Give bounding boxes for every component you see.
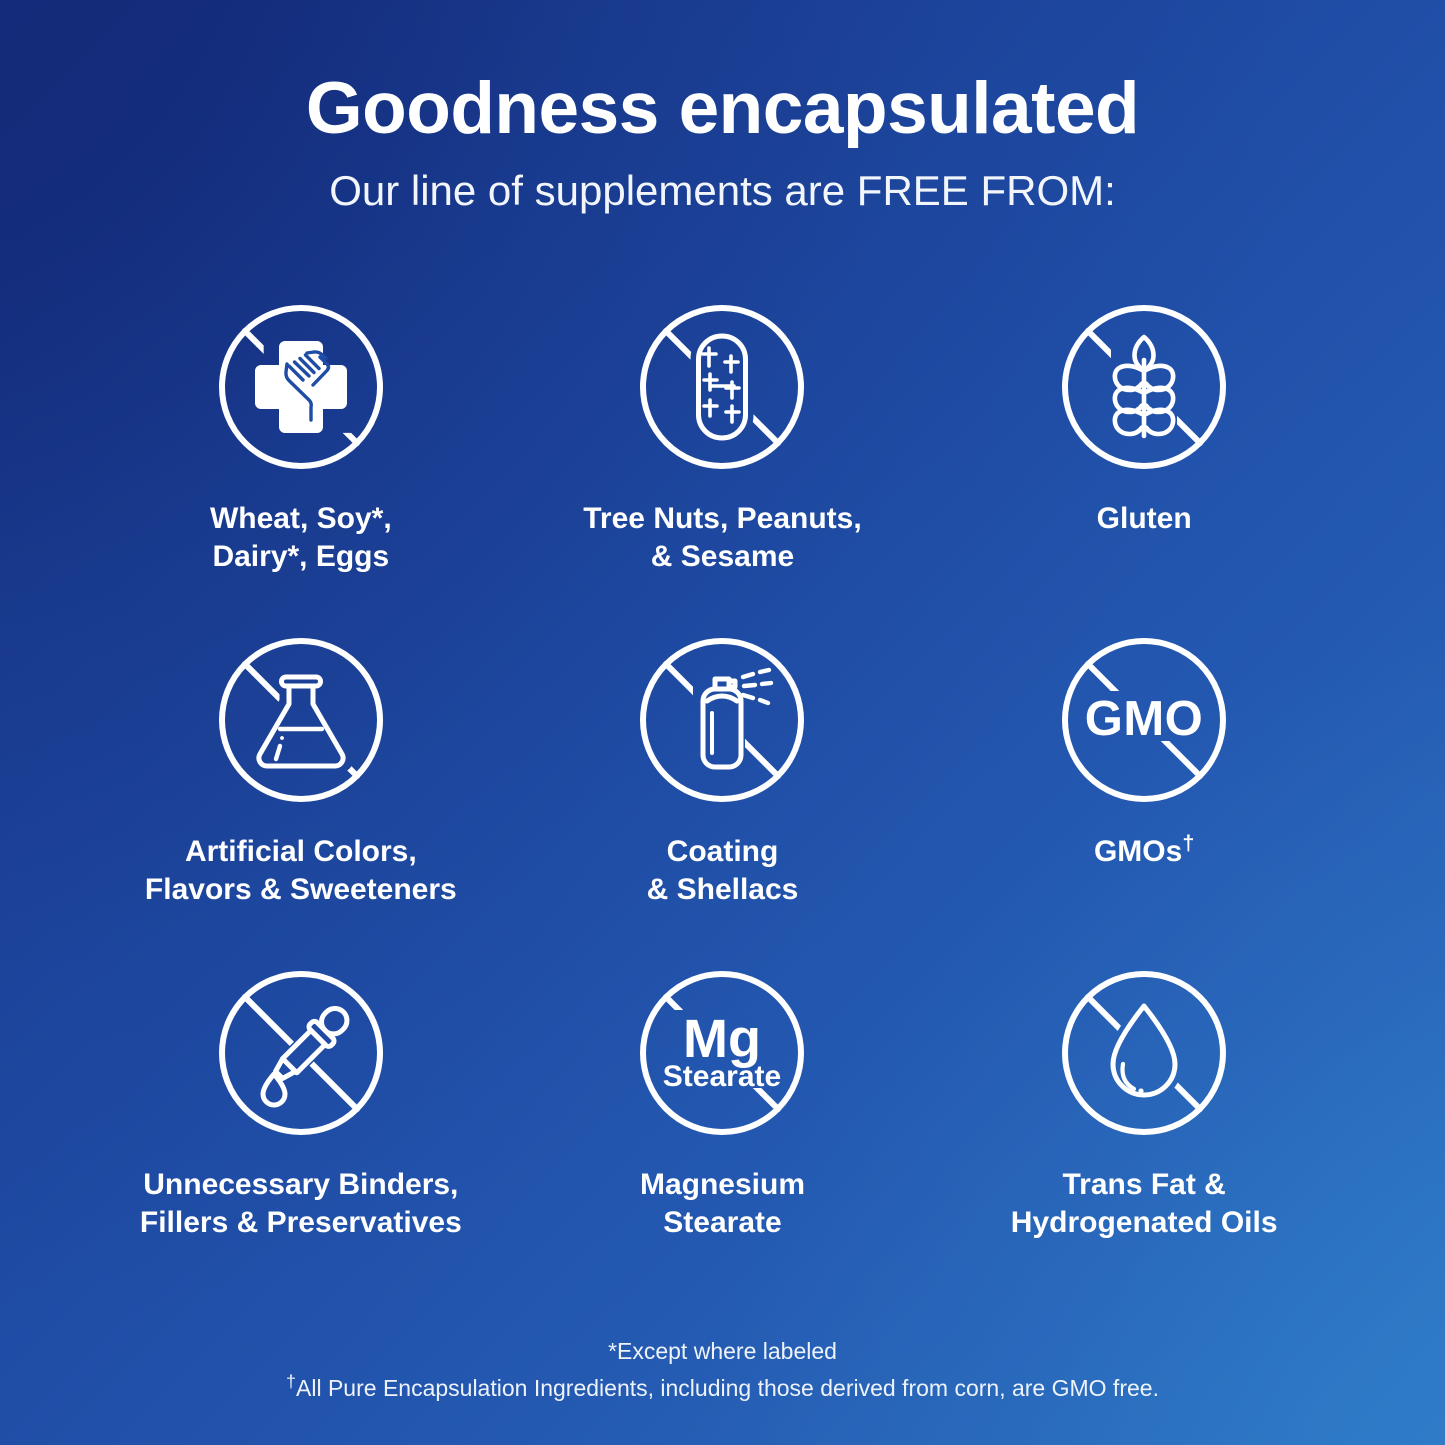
peanut-icon bbox=[631, 296, 813, 478]
caption-line-1: Wheat, Soy*, bbox=[210, 502, 392, 535]
caption-line-1: GMOs bbox=[1094, 835, 1182, 868]
caption: GMOs† bbox=[1094, 833, 1194, 871]
caption: Trans Fat & Hydrogenated Oils bbox=[1011, 1166, 1278, 1243]
caption: Tree Nuts, Peanuts, & Sesame bbox=[583, 500, 861, 577]
spray-can-icon bbox=[631, 629, 813, 811]
grid-item-gmo: GMO GMOs† bbox=[933, 629, 1355, 962]
header: Goodness encapsulated Our line of supple… bbox=[0, 0, 1445, 212]
oil-droplet-icon bbox=[1053, 962, 1235, 1144]
caption: Coating & Shellacs bbox=[647, 833, 799, 910]
dropper-pipette-icon bbox=[210, 962, 392, 1144]
medical-cross-fork-icon bbox=[210, 296, 392, 478]
footnote-asterisk: *Except where labeled bbox=[0, 1333, 1445, 1370]
footnotes: *Except where labeled †All Pure Encapsul… bbox=[0, 1333, 1445, 1407]
caption-line-1: Gluten bbox=[1097, 502, 1192, 535]
grid-item-nuts: Tree Nuts, Peanuts, & Sesame bbox=[512, 296, 934, 629]
caption-line-2: Fillers & Preservatives bbox=[140, 1206, 462, 1239]
caption-line-1: Unnecessary Binders, bbox=[143, 1168, 458, 1201]
caption-line-1: Tree Nuts, Peanuts, bbox=[583, 502, 861, 535]
mg-stearate-text-icon: Mg Stearate bbox=[631, 962, 813, 1144]
caption-line-2: & Shellacs bbox=[647, 873, 799, 906]
page-subtitle: Our line of supplements are FREE FROM: bbox=[0, 145, 1445, 212]
caption: Artificial Colors, Flavors & Sweeteners bbox=[145, 833, 457, 910]
footnote-dagger-text: All Pure Encapsulation Ingredients, incl… bbox=[296, 1375, 1159, 1401]
grid-item-allergens: Wheat, Soy*, Dairy*, Eggs bbox=[90, 296, 512, 629]
caption-line-2: Dairy*, Eggs bbox=[212, 540, 389, 573]
gmo-text-icon: GMO bbox=[1053, 629, 1235, 811]
caption-line-2: Hydrogenated Oils bbox=[1011, 1206, 1278, 1239]
caption: Magnesium Stearate bbox=[640, 1166, 805, 1243]
caption: Unnecessary Binders, Fillers & Preservat… bbox=[140, 1166, 462, 1243]
grid-item-binders: Unnecessary Binders, Fillers & Preservat… bbox=[90, 962, 512, 1295]
caption: Gluten bbox=[1097, 500, 1192, 538]
caption-line-1: Magnesium bbox=[640, 1168, 805, 1201]
footnote-dagger: †All Pure Encapsulation Ingredients, inc… bbox=[0, 1370, 1445, 1407]
grid-item-trans-fat: Trans Fat & Hydrogenated Oils bbox=[933, 962, 1355, 1295]
caption-line-2: Stearate bbox=[663, 1206, 781, 1239]
caption-line-2: & Sesame bbox=[651, 540, 794, 573]
supplement-free-from-infographic: Goodness encapsulated Our line of supple… bbox=[0, 0, 1445, 1445]
wheat-stalk-icon bbox=[1053, 296, 1235, 478]
free-from-grid: Wheat, Soy*, Dairy*, Eggs bbox=[0, 296, 1445, 1295]
grid-item-coating: Coating & Shellacs bbox=[512, 629, 934, 962]
grid-item-artificial-colors: Artificial Colors, Flavors & Sweeteners bbox=[90, 629, 512, 962]
caption-line-1: Coating bbox=[667, 835, 779, 868]
grid-item-magnesium-stearate: Mg Stearate Magnesium Stearate bbox=[512, 962, 934, 1295]
svg-text:GMO: GMO bbox=[1085, 692, 1204, 746]
svg-text:Stearate: Stearate bbox=[663, 1060, 781, 1093]
dagger-superscript: † bbox=[1182, 830, 1194, 855]
page-title: Goodness encapsulated bbox=[0, 0, 1445, 145]
caption-line-2: Flavors & Sweeteners bbox=[145, 873, 457, 906]
caption-line-1: Trans Fat & bbox=[1062, 1168, 1225, 1201]
caption: Wheat, Soy*, Dairy*, Eggs bbox=[210, 500, 392, 577]
grid-item-gluten: Gluten bbox=[933, 296, 1355, 629]
flask-icon bbox=[210, 629, 392, 811]
dagger-mark: † bbox=[286, 1372, 296, 1392]
caption-line-1: Artificial Colors, bbox=[185, 835, 417, 868]
